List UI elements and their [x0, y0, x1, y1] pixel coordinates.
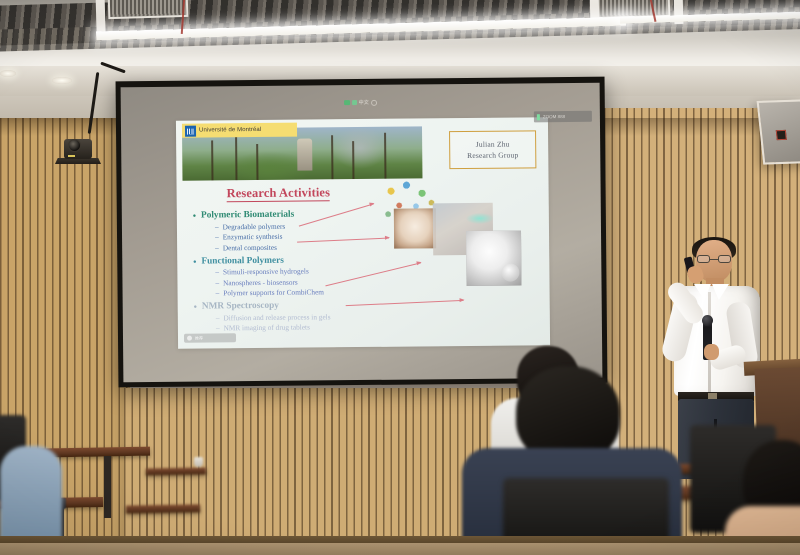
section-heading-label: Polymeric Biomaterials [201, 210, 294, 221]
cup-on-desk [194, 457, 203, 467]
camera-led-icon [68, 155, 75, 158]
slide-bullet-list: • Polymeric Biomaterials – Degradable po… [193, 205, 404, 333]
projection-screen-frame: 中文 Université de Montréal [116, 77, 608, 388]
slide-section-3: • NMR Spectroscopy – Diffusion and relea… [194, 300, 404, 333]
desk-leg-1 [104, 456, 111, 518]
sub-bullet: – Enzymatic synthesis [215, 231, 403, 242]
sub-bullet: – Nanospheres - biosensors [215, 276, 403, 287]
desk-center-rear [146, 467, 206, 475]
sub-bullet: – Degradable polymers [215, 220, 403, 231]
sub-bullet: – Stimuli-responsive hydrogels [215, 266, 403, 277]
downlight-3 [0, 70, 16, 77]
wifi-icon [344, 100, 350, 105]
dash-icon: – [215, 267, 219, 276]
polymer-microsphere-sem-photo [466, 230, 522, 286]
desk-center-small [126, 504, 200, 513]
presenter-lower-hand [704, 344, 719, 360]
sub-bullet: – NMR imaging of drug tablets [216, 322, 404, 333]
sub-bullet: – Polymer supports for CombiChem [216, 287, 404, 298]
sub-bullet: – Diffusion and release process in gels [216, 311, 404, 322]
system-bar-label: 中文 [359, 99, 369, 106]
section-heading-label: NMR Spectroscopy [202, 301, 279, 312]
bullet-dot-icon: • [193, 257, 196, 266]
bullet-dot-icon: • [193, 212, 196, 221]
section-heading-label: Functional Polymers [201, 255, 283, 266]
ceiling-beam-1 [95, 0, 105, 32]
dash-icon: – [215, 278, 219, 287]
dash-icon: – [216, 323, 220, 332]
research-group-box: Julian Zhu Research Group [449, 130, 536, 169]
zoom-window-label: ZOOM 888 [543, 114, 565, 119]
sub-bullet-label: Polymer supports for CombiChem [223, 287, 324, 297]
sub-bullet-label: Enzymatic synthesis [223, 232, 283, 242]
research-group-line2: Research Group [467, 150, 518, 159]
camera-lens-icon [68, 139, 81, 152]
ptz-camera [58, 130, 98, 164]
sub-bullet: – Dental composites [215, 241, 403, 252]
slide-section-1: • Polymeric Biomaterials – Degradable po… [193, 209, 403, 253]
eyeglasses-icon [697, 255, 731, 263]
powerpoint-slide[interactable]: Université de Montréal Julian Zhu Resear… [176, 117, 550, 349]
projection-screen-surface[interactable]: 中文 Université de Montréal [121, 83, 603, 383]
section-heading: • Functional Polymers [193, 254, 403, 266]
section-heading: • NMR Spectroscopy [194, 300, 404, 312]
slide-section-2: • Functional Polymers – Stimuli-responsi… [193, 254, 403, 298]
sub-bullet-label: Degradable polymers [223, 221, 286, 231]
zoom-window-pill[interactable]: ZOOM 888 [534, 111, 592, 123]
clock-icon [371, 99, 377, 105]
floor [0, 543, 800, 555]
section-heading: • Polymeric Biomaterials [193, 209, 403, 221]
university-crest-icon [185, 125, 196, 136]
dash-icon: – [216, 288, 220, 297]
bullet-dot-icon: • [194, 303, 197, 312]
slide-control-label: 推荐 [195, 335, 203, 341]
slide-control-bar[interactable]: 推荐 [184, 333, 236, 342]
sub-bullet-label: NMR imaging of drug tablets [224, 322, 310, 332]
ceiling-vent-panel-left [108, 0, 189, 19]
university-banner: Université de Montréal [182, 123, 297, 138]
status-dot-icon [537, 114, 540, 120]
signal-bars-icon [352, 100, 357, 105]
lecture-hall-scene: 中文 Université de Montréal [0, 0, 800, 555]
sub-bullet-label: Stimuli-responsive hydrogels [223, 267, 309, 277]
record-icon [187, 336, 192, 341]
sub-bullet-label: Diffusion and release process in gels [223, 312, 330, 322]
dash-icon: – [215, 243, 219, 252]
projected-system-bar: 中文 [344, 99, 377, 106]
university-banner-label: Université de Montréal [199, 127, 261, 134]
sub-bullet-label: Nanospheres - biosensors [223, 277, 298, 287]
dash-icon: – [215, 232, 219, 241]
wall-speaker [757, 99, 800, 164]
dash-icon: – [216, 313, 220, 322]
sub-bullet-label: Dental composites [223, 242, 277, 252]
dash-icon: – [215, 222, 219, 231]
downlight-1 [52, 77, 72, 84]
slide-title: Research Activities [227, 185, 331, 202]
research-group-line1: Julian Zhu [476, 140, 510, 149]
